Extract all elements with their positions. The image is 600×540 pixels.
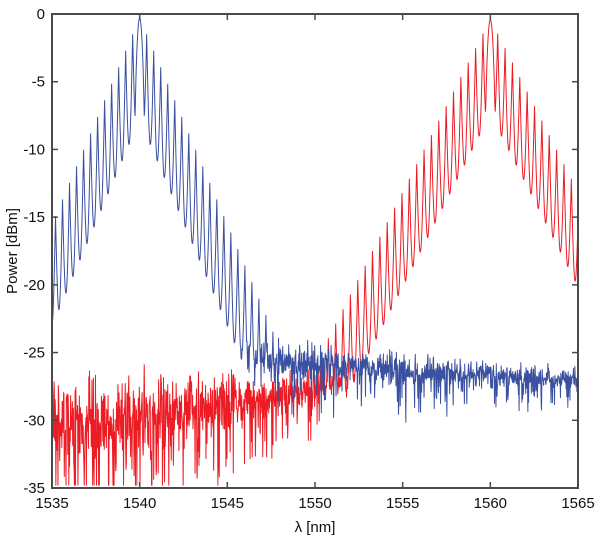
y-tick-label: -25 [23,345,45,362]
x-tick-label: 1550 [298,495,331,512]
y-axis-title: Power [dBm] [4,208,21,294]
spectrum-plot: 1535154015451550155515601565 0-5-10-15-2… [0,0,600,540]
x-tick-label: 1555 [386,495,419,512]
x-tick-label: 1545 [211,495,244,512]
x-tick-label: 1560 [474,495,507,512]
x-tick-label: 1565 [561,495,594,512]
y-tick-label: -5 [32,74,45,91]
y-tick-label: -35 [23,480,45,497]
x-axis-title: λ [nm] [295,519,336,536]
y-tick-label: -15 [23,209,45,226]
y-tick-label: -20 [23,277,45,294]
y-tick-label: 0 [37,6,45,23]
x-tick-label: 1540 [123,495,156,512]
y-tick-label: -30 [23,412,45,429]
y-tick-label: -10 [23,141,45,158]
x-tick-label: 1535 [35,495,68,512]
chart-figure: 1535154015451550155515601565 0-5-10-15-2… [0,0,600,540]
